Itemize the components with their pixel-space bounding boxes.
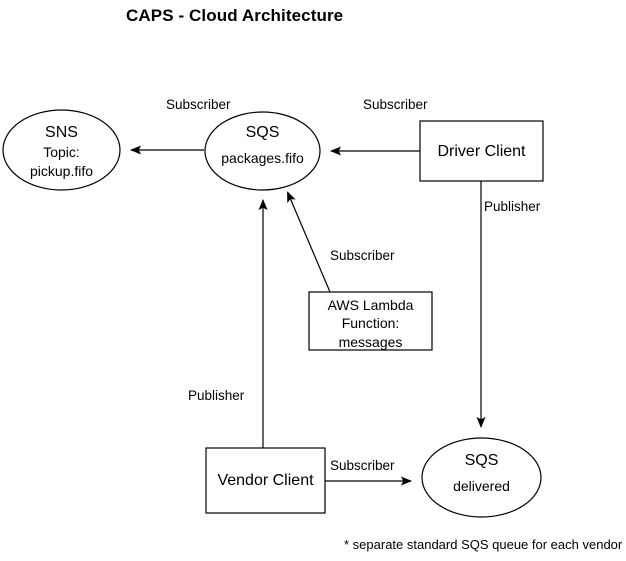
vendor-client-line1: Vendor Client — [206, 470, 325, 491]
footnote-text: * separate standard SQS queue for each v… — [344, 537, 622, 552]
sns-pickup-topic-line1: SNS — [2, 122, 121, 143]
edge-label-aws-lambda-to-sqs-packages: Subscriber — [330, 248, 395, 263]
sns-pickup-topic-label: SNS Topic: pickup.fifo — [2, 122, 121, 180]
vendor-client-label: Vendor Client — [206, 470, 325, 491]
sns-pickup-topic-line2: Topic: — [2, 143, 121, 161]
edge-label-vendor-client-to-sqs-packages: Publisher — [188, 388, 244, 403]
edge-label-driver-client-to-sqs-delivered: Publisher — [484, 199, 540, 214]
aws-lambda-line1: AWS Lambda — [309, 296, 432, 314]
sqs-delivered-queue-line2: delivered — [422, 477, 541, 495]
driver-client-label: Driver Client — [420, 141, 543, 162]
aws-lambda-line2: Function: — [309, 314, 432, 332]
aws-lambda-label: AWS Lambda Function: messages — [309, 296, 432, 351]
sqs-delivered-queue-label: SQS delivered — [422, 450, 541, 496]
edge-label-sqs-packages-to-sns: Subscriber — [166, 97, 231, 112]
sns-pickup-topic-line3: pickup.fifo — [2, 162, 121, 180]
sqs-packages-queue-label: SQS packages.fifo — [204, 122, 321, 168]
sqs-packages-queue-line2: packages.fifo — [204, 149, 321, 167]
driver-client-line1: Driver Client — [420, 141, 543, 162]
sqs-delivered-queue-line1: SQS — [422, 450, 541, 471]
edge-aws-lambda-to-sqs-packages-line — [288, 192, 331, 292]
sqs-packages-queue-line1: SQS — [204, 122, 321, 143]
edge-label-vendor-client-to-sqs-delivered: Subscriber — [330, 458, 395, 473]
edge-label-driver-client-to-sqs-packages: Subscriber — [363, 97, 428, 112]
aws-lambda-line3: messages — [309, 333, 432, 351]
diagram-canvas: CAPS - Cloud Architecture SNS Topic: pic… — [0, 0, 626, 561]
